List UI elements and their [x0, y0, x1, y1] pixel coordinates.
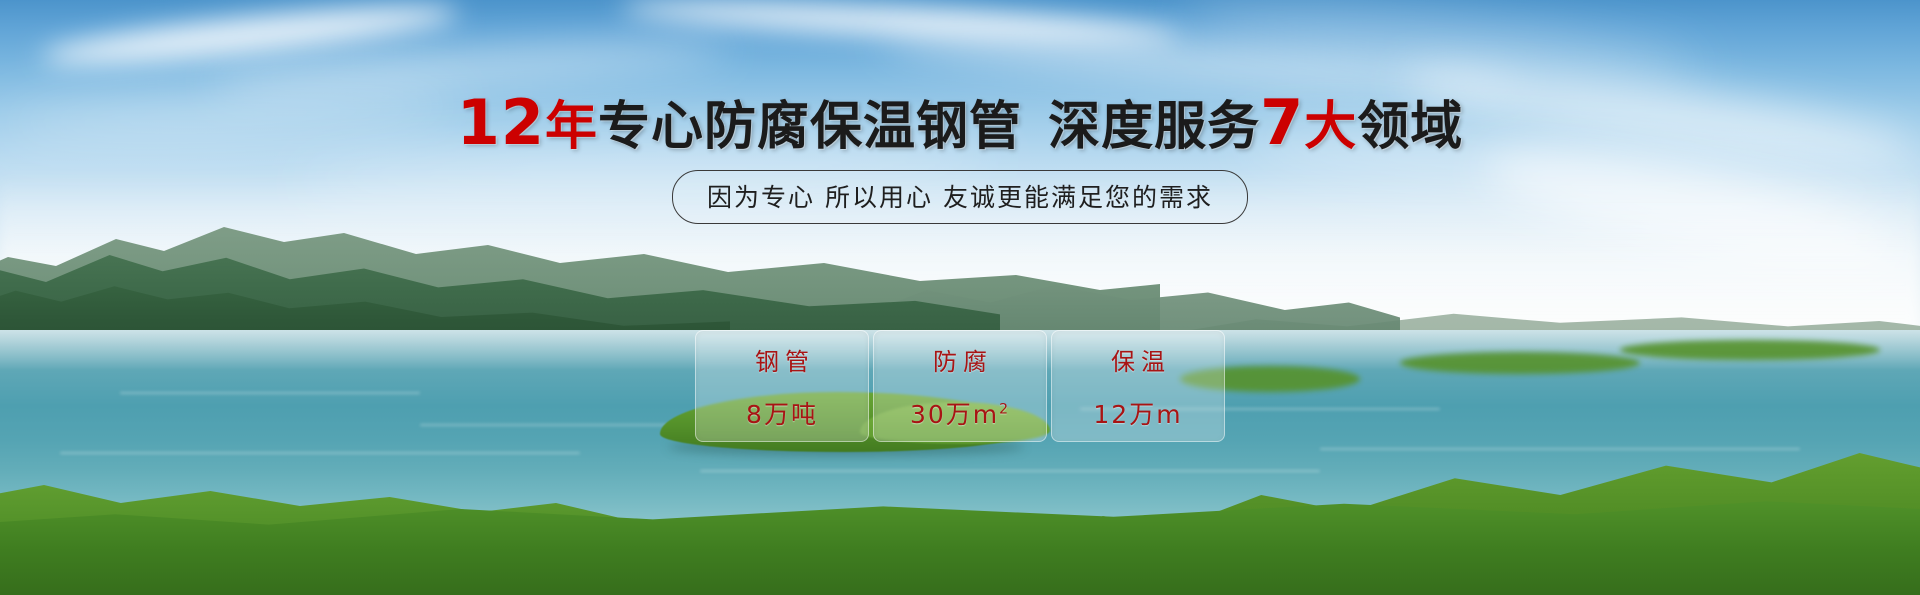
stats-card-row: 钢管 8万吨 防腐 30万m2 保温 12万m	[0, 330, 1920, 442]
headline: 12年专心防腐保温钢管深度服务7大领域	[0, 88, 1920, 157]
banner-content: 12年专心防腐保温钢管深度服务7大领域 因为专心 所以用心 友诚更能满足您的需求…	[0, 0, 1920, 595]
headline-part-b: 深度服务	[1048, 97, 1260, 157]
stat-card-value: 8万吨	[746, 395, 818, 431]
stat-card-value-text: 12万m	[1093, 400, 1182, 429]
headline-seven-number: 7	[1260, 86, 1304, 159]
subtitle-container: 因为专心 所以用心 友诚更能满足您的需求	[0, 170, 1920, 224]
stat-card-steel-pipe: 钢管 8万吨	[695, 330, 869, 442]
headline-part-c: 领域	[1357, 97, 1463, 157]
headline-years-number: 12	[457, 86, 545, 159]
stat-card-value: 12万m	[1093, 395, 1182, 431]
stat-card-value-text: 30万m	[910, 400, 999, 429]
headline-seven-unit: 大	[1304, 97, 1357, 157]
stat-card-title: 防腐	[927, 342, 993, 377]
stat-card-value-superscript: 2	[999, 401, 1010, 417]
promo-banner: 12年专心防腐保温钢管深度服务7大领域 因为专心 所以用心 友诚更能满足您的需求…	[0, 0, 1920, 595]
headline-part-a: 专心防腐保温钢管	[598, 97, 1022, 157]
stat-card-value: 30万m2	[910, 395, 1010, 431]
stat-card-title: 钢管	[749, 342, 815, 377]
stat-card-title: 保温	[1105, 342, 1171, 377]
subtitle-pill: 因为专心 所以用心 友诚更能满足您的需求	[672, 170, 1248, 224]
headline-years-unit: 年	[545, 97, 598, 157]
stat-card-insulation: 保温 12万m	[1051, 330, 1225, 442]
stat-card-anticorrosion: 防腐 30万m2	[873, 330, 1047, 442]
stat-card-value-text: 8万吨	[746, 400, 818, 429]
